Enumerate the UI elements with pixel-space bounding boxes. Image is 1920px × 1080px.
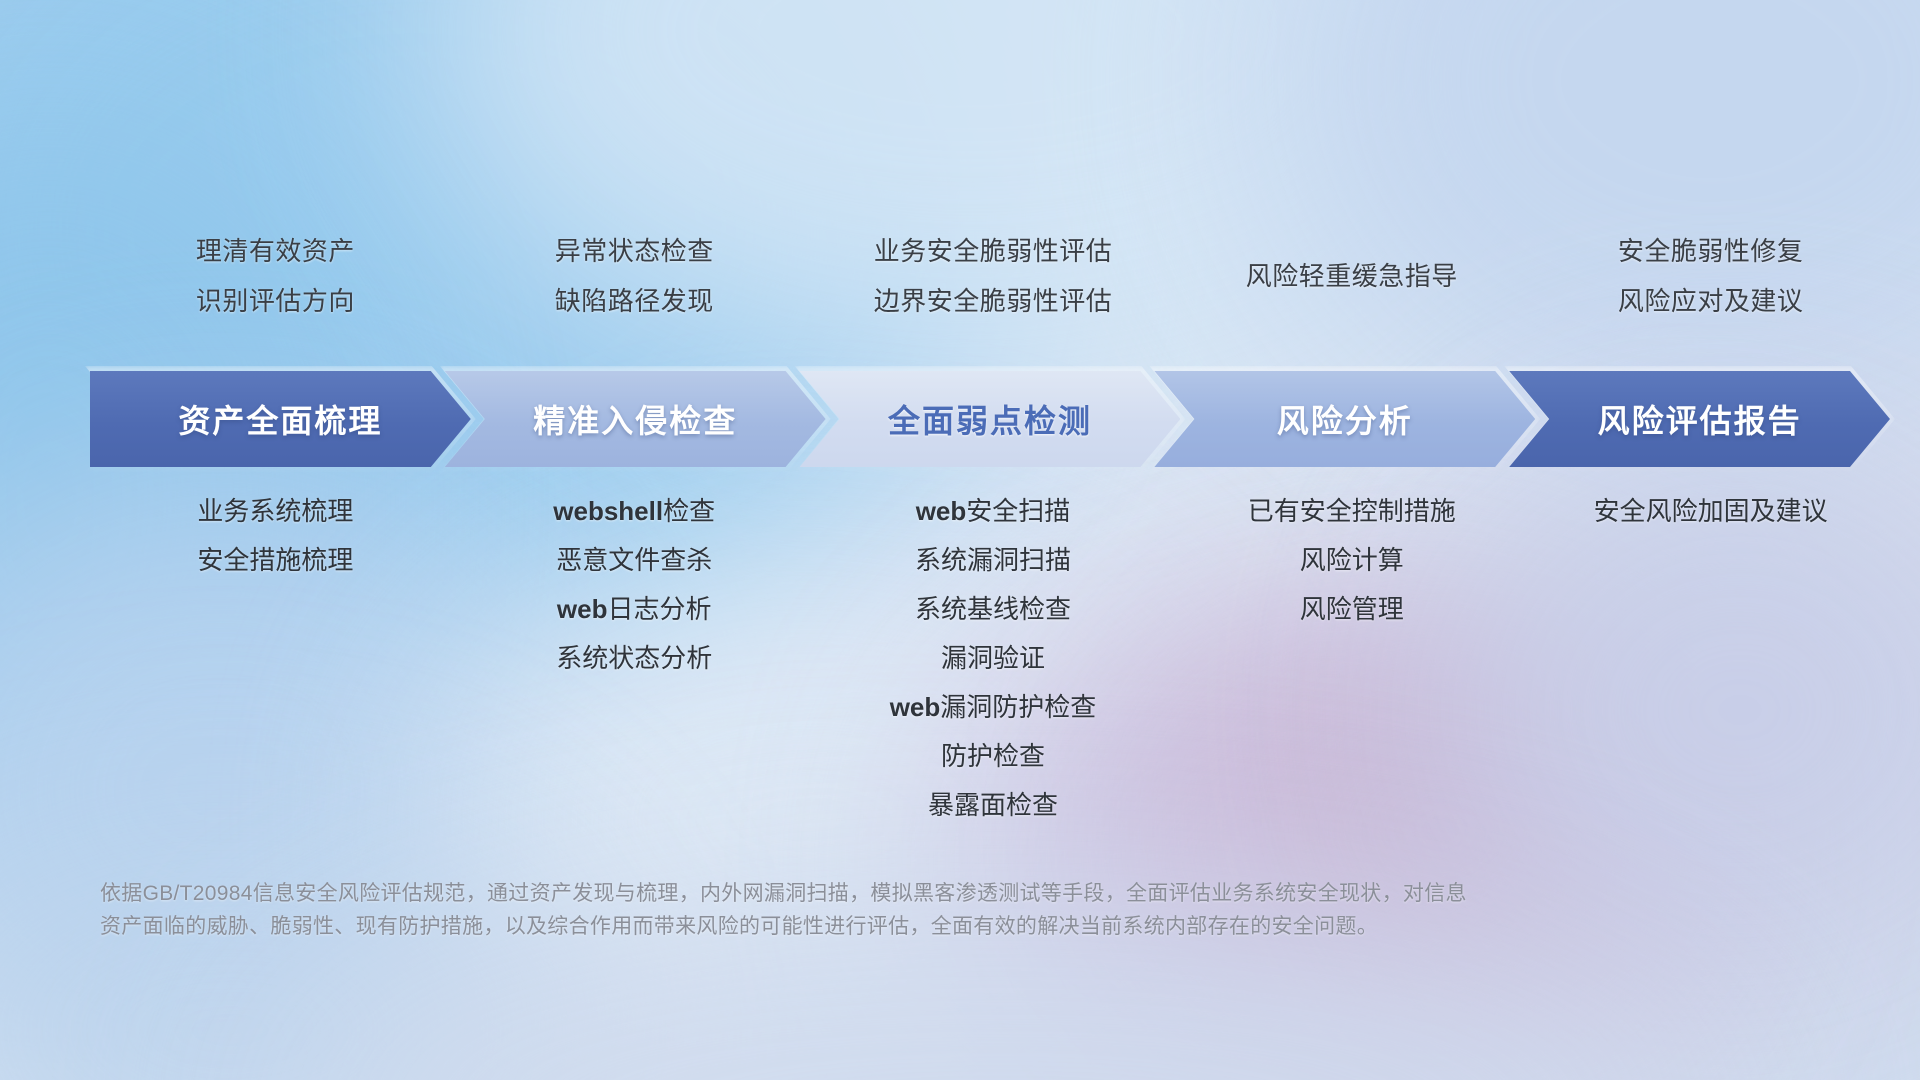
list-item: 系统状态分析 (556, 645, 712, 671)
list-item-label: 漏洞防护检查 (940, 692, 1096, 722)
process-step-intrusion-check[interactable]: 精准入侵检查 (445, 371, 826, 467)
list-item: 安全风险加固及建议 (1594, 498, 1828, 524)
infographic-stage: 理清有效资产识别评估方向异常状态检查缺陷路径发现业务安全脆弱性评估边界安全脆弱性… (0, 0, 1920, 1080)
top-notes-column-risk-analysis: 风险轻重缓急指导 (1172, 228, 1531, 324)
bottom-items-column-assessment-report: 安全风险加固及建议 (1531, 498, 1890, 818)
top-notes-group: 理清有效资产识别评估方向 (196, 238, 355, 314)
top-notes-columns: 理清有效资产识别评估方向异常状态检查缺陷路径发现业务安全脆弱性评估边界安全脆弱性… (96, 228, 1890, 324)
list-item-label: 日志分析 (607, 594, 711, 624)
process-step-title: 资产全面梳理 (178, 396, 382, 442)
list-item: web日志分析 (557, 596, 712, 622)
top-notes-column-weakness-detection: 业务安全脆弱性评估边界安全脆弱性评估 (814, 228, 1173, 324)
top-notes-group: 风险轻重缓急指导 (1246, 229, 1458, 323)
list-item-prefix: web (557, 594, 608, 624)
top-notes-column-asset-inventory: 理清有效资产识别评估方向 (96, 228, 455, 324)
bottom-items-column-asset-inventory: 业务系统梳理安全措施梳理 (96, 498, 455, 818)
process-chevron-band: 资产全面梳理精准入侵检查全面弱点检测风险分析风险评估报告 (0, 371, 1920, 467)
top-note: 风险轻重缓急指导 (1246, 263, 1458, 289)
list-item: web安全扫描 (916, 498, 1071, 524)
list-item: 系统漏洞扫描 (915, 547, 1071, 573)
list-item: 防护检查 (941, 743, 1045, 769)
list-item: 安全措施梳理 (197, 547, 353, 573)
top-note: 风险应对及建议 (1618, 288, 1804, 314)
footer-line-1: 依据GB/T20984信息安全风险评估规范，通过资产发现与梳理，内外网漏洞扫描，… (100, 877, 1740, 910)
top-note: 边界安全脆弱性评估 (874, 288, 1113, 314)
top-notes-group: 业务安全脆弱性评估边界安全脆弱性评估 (874, 238, 1113, 314)
top-note: 业务安全脆弱性评估 (874, 238, 1113, 264)
top-notes-column-intrusion-check: 异常状态检查缺陷路径发现 (455, 228, 814, 324)
process-step-title: 风险分析 (1277, 396, 1413, 442)
bottom-items-row: 业务系统梳理安全措施梳理webshell检查恶意文件查杀web日志分析系统状态分… (0, 498, 1920, 818)
top-note: 异常状态检查 (555, 238, 714, 264)
top-notes-group: 安全脆弱性修复风险应对及建议 (1618, 238, 1804, 314)
list-item: 风险管理 (1300, 596, 1404, 622)
top-notes-row: 理清有效资产识别评估方向异常状态检查缺陷路径发现业务安全脆弱性评估边界安全脆弱性… (0, 228, 1920, 324)
top-note: 安全脆弱性修复 (1618, 238, 1804, 264)
bottom-items-column-weakness-detection: web安全扫描系统漏洞扫描系统基线检查漏洞验证web漏洞防护检查防护检查暴露面检… (814, 498, 1173, 818)
top-note: 理清有效资产 (196, 238, 355, 264)
top-notes-group: 异常状态检查缺陷路径发现 (555, 238, 714, 314)
list-item: 漏洞验证 (941, 645, 1045, 671)
list-item: 系统基线检查 (915, 596, 1071, 622)
process-step-title: 风险评估报告 (1598, 396, 1802, 442)
list-item-label: 检查 (663, 496, 715, 526)
bottom-items-column-intrusion-check: webshell检查恶意文件查杀web日志分析系统状态分析 (455, 498, 814, 818)
process-step-weakness-detection[interactable]: 全面弱点检测 (800, 371, 1181, 467)
list-item-label: 安全扫描 (966, 496, 1070, 526)
process-step-title: 全面弱点检测 (888, 396, 1092, 442)
bottom-items-columns: 业务系统梳理安全措施梳理webshell检查恶意文件查杀web日志分析系统状态分… (96, 498, 1890, 818)
list-item: 风险计算 (1300, 547, 1404, 573)
list-item-prefix: web (916, 496, 967, 526)
footer-line-2: 资产面临的威胁、脆弱性、现有防护措施，以及综合作用而带来风险的可能性进行评估，全… (100, 910, 1740, 943)
list-item: webshell检查 (553, 498, 715, 524)
process-step-risk-analysis[interactable]: 风险分析 (1154, 371, 1535, 467)
process-step-title: 精准入侵检查 (533, 396, 737, 442)
list-item: web漏洞防护检查 (890, 694, 1097, 720)
list-item: 暴露面检查 (928, 792, 1058, 818)
process-step-asset-inventory[interactable]: 资产全面梳理 (90, 371, 471, 467)
top-note: 缺陷路径发现 (555, 288, 714, 314)
list-item: 业务系统梳理 (197, 498, 353, 524)
process-steps: 资产全面梳理精准入侵检查全面弱点检测风险分析风险评估报告 (90, 371, 1890, 467)
list-item-prefix: webshell (553, 496, 663, 526)
footer-description: 依据GB/T20984信息安全风险评估规范，通过资产发现与梳理，内外网漏洞扫描，… (100, 877, 1740, 943)
bottom-items-column-risk-analysis: 已有安全控制措施风险计算风险管理 (1172, 498, 1531, 818)
top-notes-column-assessment-report: 安全脆弱性修复风险应对及建议 (1531, 228, 1890, 324)
list-item: 已有安全控制措施 (1248, 498, 1456, 524)
process-step-assessment-report[interactable]: 风险评估报告 (1509, 371, 1890, 467)
list-item-prefix: web (890, 692, 941, 722)
list-item: 恶意文件查杀 (556, 547, 712, 573)
top-note: 识别评估方向 (196, 288, 355, 314)
